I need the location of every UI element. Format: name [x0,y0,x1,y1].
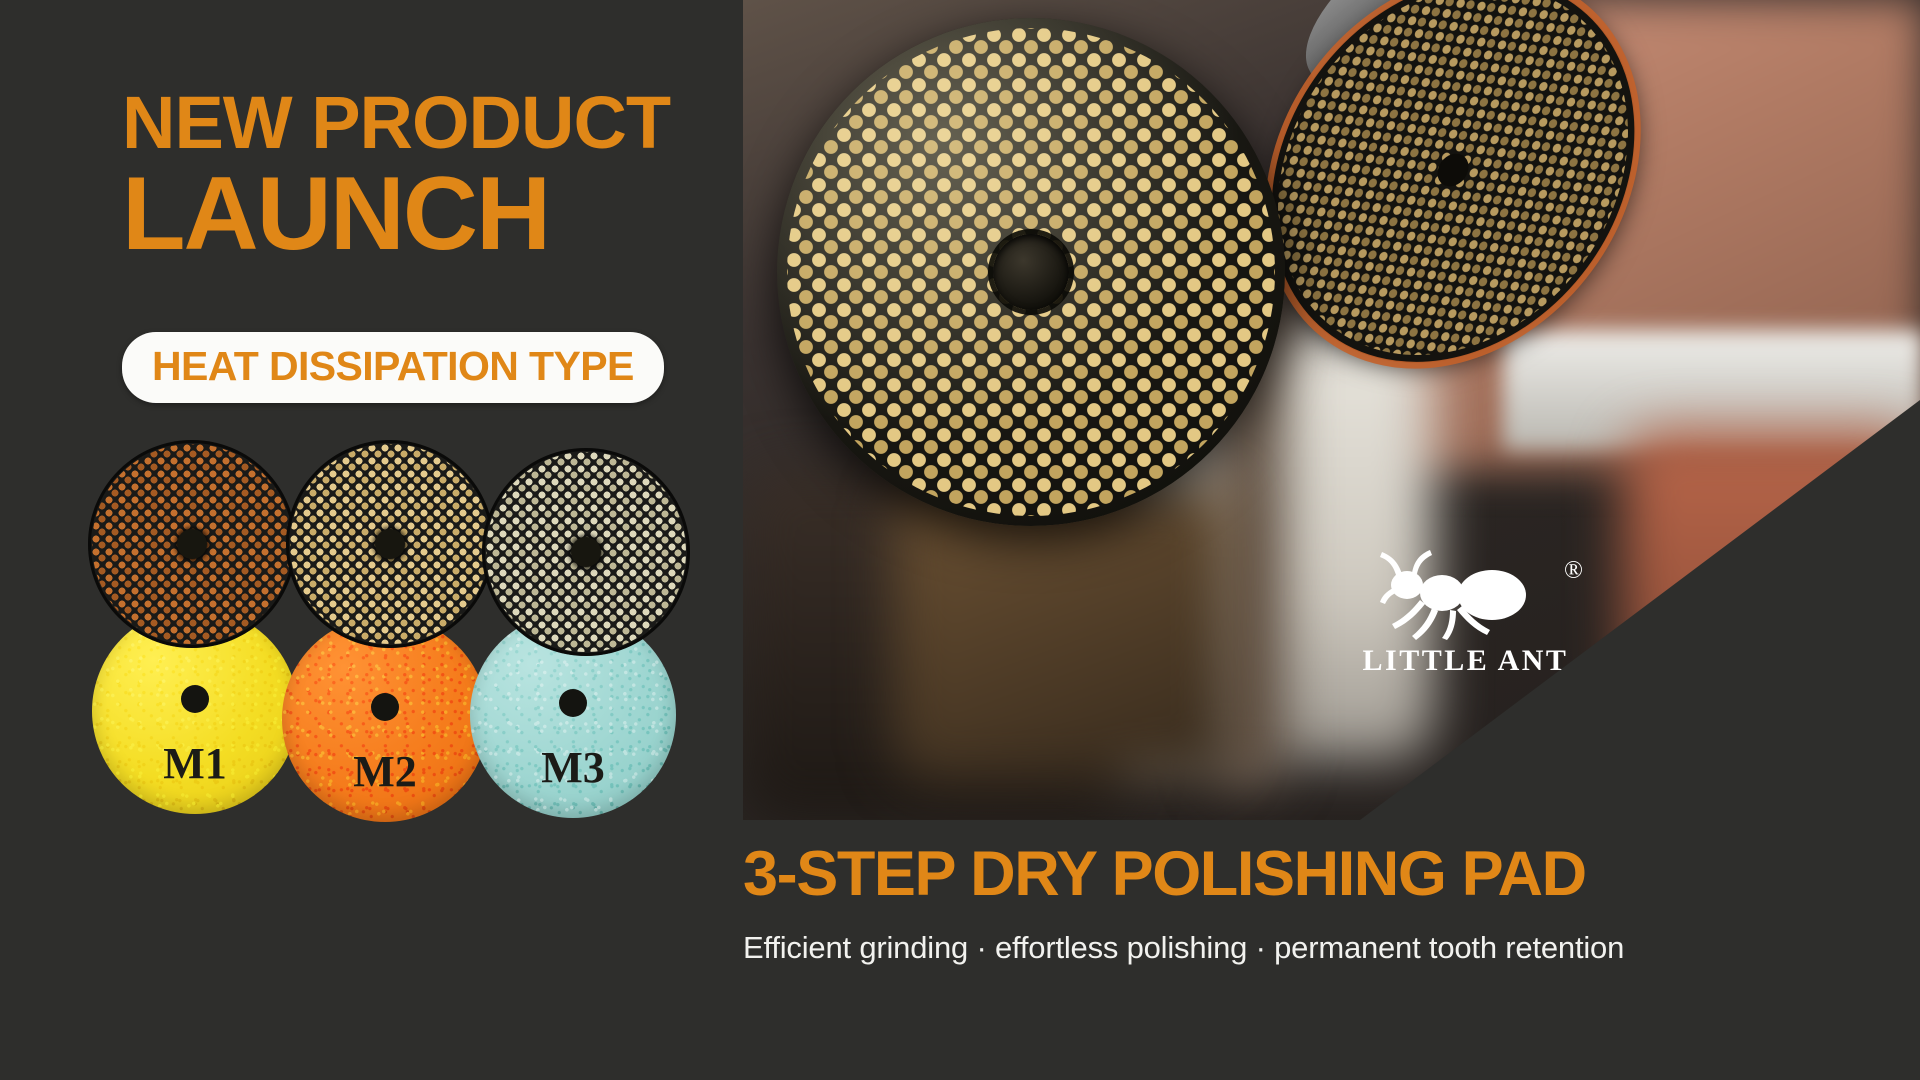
cream-diamond-disc [482,448,690,656]
copper-diamond-disc [88,440,296,648]
backing-pad-label: M3 [470,742,676,793]
center-hole [371,693,399,721]
center-hole [571,537,601,567]
headline-block: NEW PRODUCT LAUNCH [122,88,702,266]
product-title: 3-STEP DRY POLISHING PAD [743,838,1920,910]
hero-polishing-pad [777,18,1285,526]
product-photo [743,0,1920,820]
heat-dissipation-badge: HEAT DISSIPATION TYPE [122,332,664,403]
center-hole [177,529,207,559]
backing-pad-label: M2 [282,746,488,797]
product-tagline: Efficient grinding · effortless polishin… [743,930,1920,966]
product-launch-banner: NEW PRODUCT LAUNCH HEAT DISSIPATION TYPE… [0,0,1920,1080]
warm-backdrop [893,480,1233,780]
center-hole [181,685,209,713]
launch-heading: LAUNCH [122,162,702,266]
backing-pad-label: M1 [92,738,298,789]
center-hole [559,689,587,717]
ant-icon [1358,548,1548,640]
little-ant-logo: ® LITTLE ANT [1348,548,1583,688]
gold-diamond-disc [286,440,494,648]
logo-wordmark: LITTLE ANT [1348,644,1583,678]
badge-label: HEAT DISSIPATION TYPE [152,343,634,390]
left-content-panel: NEW PRODUCT LAUNCH HEAT DISSIPATION TYPE… [0,0,740,1080]
registered-mark: ® [1564,558,1583,583]
center-hole [993,234,1069,310]
kicker-text: NEW PRODUCT [122,88,702,158]
pad-showcase: M1 M2 M3 [70,432,710,852]
right-content-panel: ® LITTLE ANT 3-STEP DRY POLISHING PAD Ef… [740,0,1920,1080]
center-hole [375,529,405,559]
